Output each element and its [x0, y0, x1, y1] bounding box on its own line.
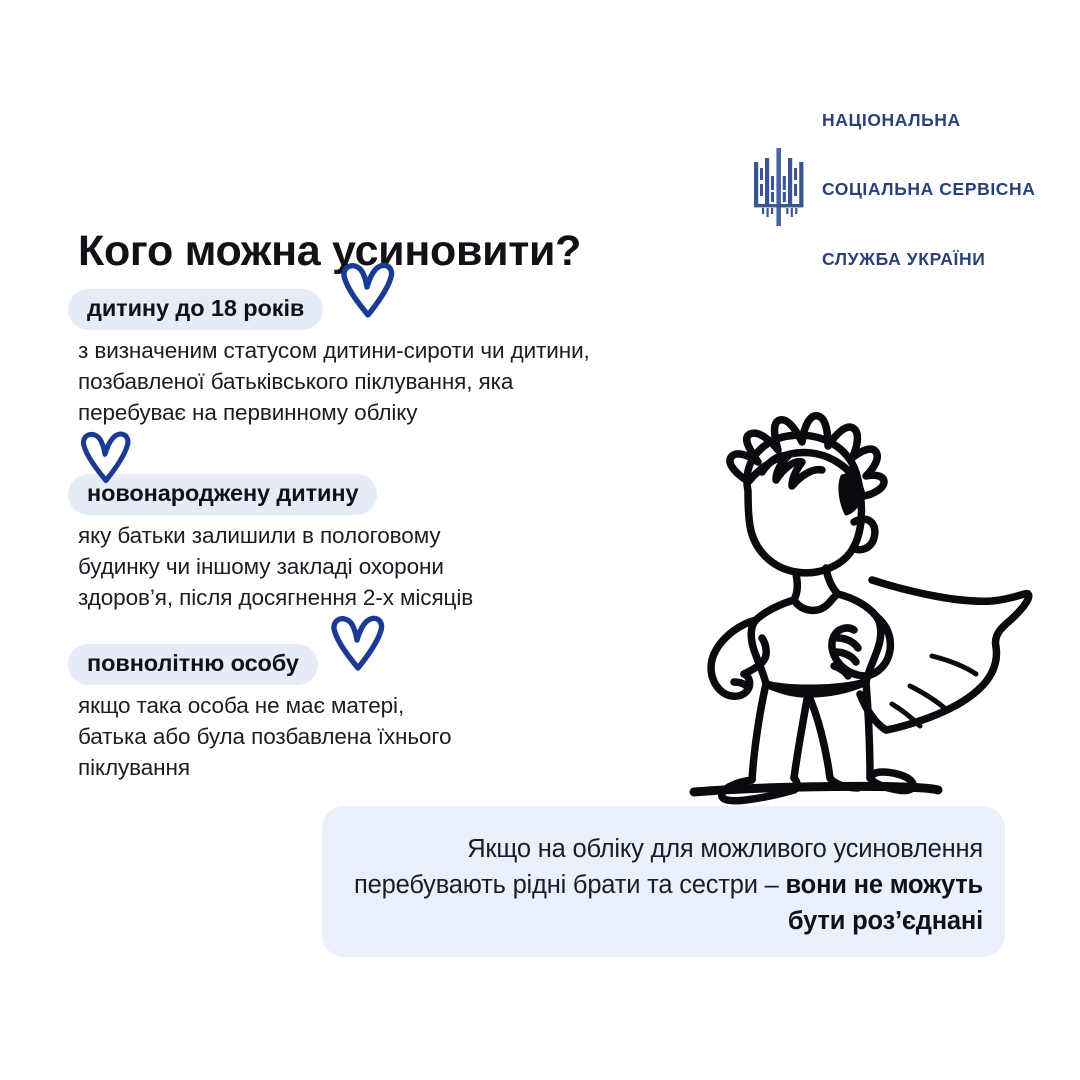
- superhero-boy-with-cape-illustration: [676, 398, 1062, 828]
- pill-row: дитину до 18 років: [68, 289, 323, 330]
- organization-logo: НАЦІОНАЛЬНА СОЦІАЛЬНА СЕРВІСНА СЛУЖБА УК…: [752, 62, 1036, 318]
- pill-row: новонароджену дитину: [68, 474, 377, 515]
- callout-text: Якщо на обліку для можливого усиновлення…: [352, 832, 983, 940]
- criteria-section-newborn: новонароджену дитину яку батьки залишили…: [68, 474, 473, 613]
- organization-name: НАЦІОНАЛЬНА СОЦІАЛЬНА СЕРВІСНА СЛУЖБА УК…: [822, 62, 1036, 318]
- infographic-page: НАЦІОНАЛЬНА СОЦІАЛЬНА СЕРВІСНА СЛУЖБА УК…: [0, 0, 1080, 1080]
- criteria-section-child-under-18: дитину до 18 років з визначеним статусом…: [68, 289, 590, 428]
- criteria-heading-pill: дитину до 18 років: [68, 289, 323, 330]
- criteria-body-text: якщо така особа не має матері, батька аб…: [78, 691, 451, 783]
- criteria-heading-pill: повнолітню особу: [68, 644, 318, 685]
- heart-outline-icon: [326, 614, 388, 681]
- callout-text-bold: вони не можуть бути роз’єднані: [786, 871, 983, 935]
- criteria-heading-pill: новонароджену дитину: [68, 474, 377, 515]
- criteria-body-text: з визначеним статусом дитини-сироти чи д…: [78, 336, 590, 428]
- national-social-service-bars-emblem-icon: [752, 146, 808, 233]
- organization-name-line-3: СЛУЖБА УКРАЇНИ: [822, 248, 1036, 271]
- page-title: Кого можна усиновити?: [78, 227, 581, 276]
- sibling-rule-callout: Якщо на обліку для можливого усиновлення…: [322, 806, 1005, 957]
- criteria-section-adult: повнолітню особу якщо така особа не має …: [68, 644, 451, 783]
- criteria-body-text: яку батьки залишили в пологовому будинку…: [78, 521, 473, 613]
- organization-name-line-1: НАЦІОНАЛЬНА: [822, 109, 1036, 132]
- organization-name-line-2: СОЦІАЛЬНА СЕРВІСНА: [822, 178, 1036, 201]
- pill-row: повнолітню особу: [68, 644, 318, 685]
